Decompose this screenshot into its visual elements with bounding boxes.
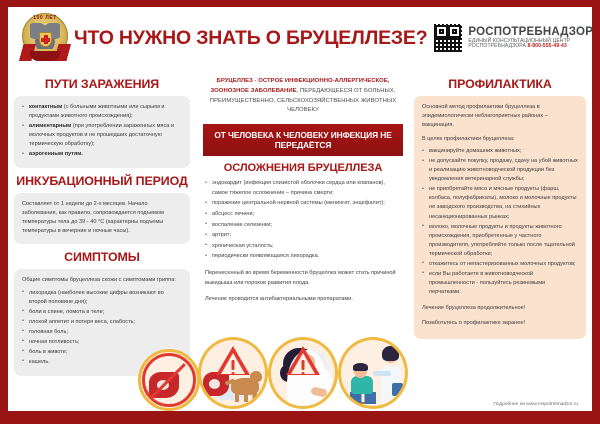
routes-list: контактным (с больными животными или сыр… <box>22 103 182 159</box>
brand-block: РОСПОТРЕБНАДЗОР ЕДИНЫЙ КОНСУЛЬТАЦИОННЫЙ … <box>433 23 600 53</box>
prophylaxis-card: Основной метод профилактики бруцеллеза в… <box>414 96 586 339</box>
exclamation-mark-icon <box>232 360 235 370</box>
prophylaxis-heading: ПРОФИЛАКТИКА <box>414 77 586 91</box>
list-item: контактным (с больными животными или сыр… <box>22 103 182 121</box>
emblem-anniversary-label: 100 ЛЕТ <box>22 15 68 21</box>
complications-list-wrap: эндокардит (инфекция слизистой оболочки … <box>203 179 403 262</box>
incubation-card: Составляет от 1 недели до 2-х месяцев. Н… <box>14 193 190 244</box>
incubation-heading: ИНКУБАЦИОННЫЙ ПЕРИОД <box>14 174 190 188</box>
prophylaxis-intro: Основной метод профилактики бруцеллеза в… <box>422 103 578 130</box>
list-item: боли в спине, ломота в теле; <box>22 308 182 317</box>
list-item: лихорадка (наиболее высокие цифры возник… <box>22 289 182 307</box>
poster-root: 100 ЛЕТ ЧТО НУЖНО ЗНАТЬ О БРУЦЕЛЛЕЗЕ? РО… <box>0 0 600 424</box>
complications-heading: ОСЛОЖНЕНИЯ БРУЦЕЛЛЕЗА <box>203 162 403 174</box>
list-item: аэрогенным путям. <box>22 150 182 159</box>
rospotrebnadzor-emblem-icon: 100 ЛЕТ <box>16 10 74 66</box>
nurse-hair-shape <box>382 346 399 361</box>
incubation-text: Составляет от 1 недели до 2-х месяцев. Н… <box>22 200 182 236</box>
consult-center-line-2: РОСПОТРЕБНАДЗОРА 8-800-555-49-43 <box>468 44 593 50</box>
list-item: не приобретайте мясо и мясные продукты (… <box>422 185 578 221</box>
symptoms-heading: СИМПТОМЫ <box>14 250 190 264</box>
list-item: воспаление селезенки; <box>205 221 401 231</box>
emblem-cross-icon <box>44 35 48 44</box>
treatment-note: Лечение проводится антибактериальными пр… <box>205 295 401 305</box>
list-item: поражение центральной нервной системы (м… <box>205 199 401 209</box>
list-item: хроническая усталость; <box>205 242 401 252</box>
list-item: эндокардит (инфекция слизистой оболочки … <box>205 179 401 198</box>
no-human-transmission-banner: ОТ ЧЕЛОВЕКА К ЧЕЛОВЕКУ ИНФЕКЦИЯ НЕ ПЕРЕД… <box>203 124 403 156</box>
list-item: вакцинируйте домашних животных; <box>422 147 578 156</box>
list-item: периодически появляющаяся лихорадка. <box>205 252 401 262</box>
list-item: откажитесь от непастеризованных молочных… <box>422 260 578 269</box>
hotline-phone: 8-800-555-49-43 <box>527 43 566 49</box>
list-item: ночная потливость; <box>22 338 182 347</box>
disease-definition: БРУЦЕЛЛЕЗ - ОСТРОЕ ИНФЕКЦИОННО-АЛЛЕРГИЧЕ… <box>203 71 403 116</box>
list-item: абсцесс печени; <box>205 210 401 220</box>
brand-text: РОСПОТРЕБНАДЗОР ЕДИНЫЙ КОНСУЛЬТАЦИОННЫЙ … <box>468 26 593 50</box>
pregnancy-note: Перенесенный во время беременности бруце… <box>205 269 401 288</box>
brand-name: РОСПОТРЕБНАДЗОР <box>468 26 593 39</box>
routes-item-1-bold: алиментарным <box>29 123 71 129</box>
list-item: если Вы работаете в животноводческой про… <box>422 270 578 297</box>
qr-code-icon[interactable] <box>433 23 463 53</box>
poster-sheet: 100 ЛЕТ ЧТО НУЖНО ЗНАТЬ О БРУЦЕЛЛЕЗЕ? РО… <box>8 7 592 411</box>
middle-column: БРУЦЕЛЛЕЗ - ОСТРОЕ ИНФЕКЦИОННО-АЛЛЕРГИЧЕ… <box>196 71 410 411</box>
closing-line-2: Позаботьтесь о профилактике заранее! <box>422 319 578 328</box>
list-item: головная боль; <box>22 328 182 337</box>
symptoms-intro: Общие симптомы бруцеллеза схожи с симпто… <box>22 276 182 285</box>
left-column: ПУТИ ЗАРАЖЕНИЯ контактным (с больными жи… <box>14 71 196 411</box>
syringe-icon <box>373 371 391 376</box>
footer-website[interactable]: Подробнее на www.rospotrebnadzor.ru <box>493 402 578 407</box>
patient-body-shape <box>351 376 373 394</box>
list-item: молоко, молочные продукты и продукты жив… <box>422 223 578 259</box>
routes-item-2-bold: аэрогенным путям. <box>29 151 83 157</box>
emblem-ribbon-center <box>30 51 60 61</box>
list-item: алиментарным (при употреблении зараженны… <box>22 122 182 149</box>
exclamation-mark-icon <box>302 360 305 370</box>
closing-line-1: Лечение бруцеллеза продолжительное! <box>422 304 578 313</box>
poster-header: 100 ЛЕТ ЧТО НУЖНО ЗНАТЬ О БРУЦЕЛЛЕЗЕ? РО… <box>8 7 592 69</box>
medical-bag-icon <box>392 383 403 396</box>
list-item: артрит; <box>205 231 401 241</box>
prophylaxis-subintro: В целях профилактики бруцеллеза: <box>422 135 578 144</box>
routes-card: контактным (с больными животными или сыр… <box>14 96 190 168</box>
patient-hair-shape <box>353 363 368 371</box>
consult-center-label: РОСПОТРЕБНАДЗОРА <box>468 43 526 49</box>
right-column: ПРОФИЛАКТИКА Основной метод профилактики… <box>410 71 586 411</box>
routes-heading: ПУТИ ЗАРАЖЕНИЯ <box>14 77 190 91</box>
page-title: ЧТО НУЖНО ЗНАТЬ О БРУЦЕЛЛЕЗЕ? <box>74 27 433 50</box>
dog-icon <box>231 378 259 395</box>
poster-columns: ПУТИ ЗАРАЖЕНИЯ контактным (с больными жи… <box>8 69 592 411</box>
pregnancy-note-block: Перенесенный во время беременности бруце… <box>203 269 403 305</box>
list-item: не допускайте покупку, продажу, сдачу на… <box>422 157 578 184</box>
routes-item-0-bold: контактным <box>29 104 62 110</box>
list-item: плохой аппетит и потеря веса, слабость; <box>22 318 182 327</box>
complications-list: эндокардит (инфекция слизистой оболочки … <box>205 179 401 262</box>
prophylaxis-list: вакцинируйте домашних животных; не допус… <box>422 147 578 297</box>
vaccination-illustration <box>338 337 408 409</box>
